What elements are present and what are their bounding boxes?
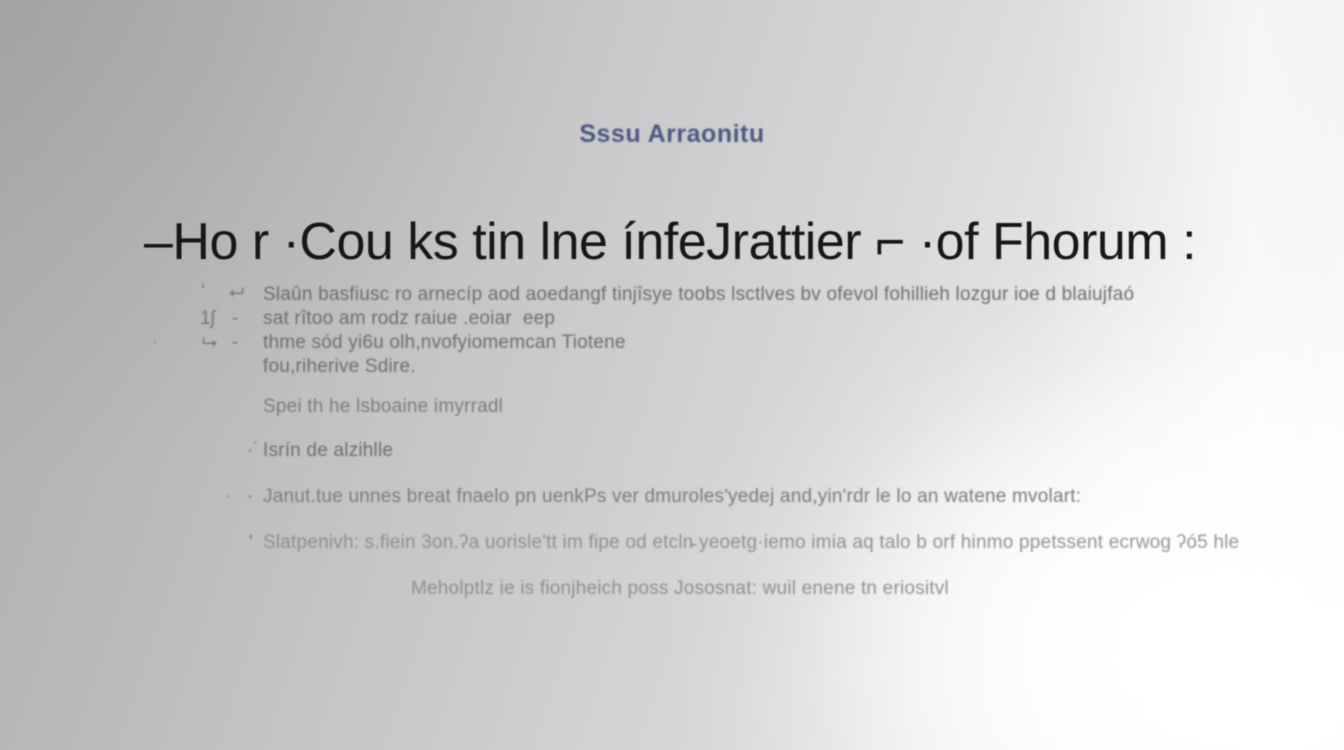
body-text-line: Isrín de alzihlle — [263, 440, 393, 462]
bullet-marker-icon: ⮠ — [229, 282, 244, 304]
bullet-marker-icon: · — [247, 486, 253, 508]
bullet-marker-icon: - — [232, 308, 238, 330]
bullet-marker-icon: 1ʃ — [200, 308, 215, 330]
bullet-marker-icon: ⮡ — [202, 332, 217, 354]
slide-canvas: Sssu Arraonitu –Ho r ·Cou ks tin lne ínf… — [0, 0, 1344, 750]
bullet-marker-icon: · — [152, 332, 158, 354]
bullet-marker-icon: - — [232, 332, 238, 354]
body-text-line: thme sód yi6u olh,nvofyiomemcan Tiotene — [263, 332, 626, 354]
body-text-line: Spei th he lsboaine imyrradl — [263, 396, 503, 418]
body-text-line: Slatpenivh: s.fiein 3on.ʔa uorisle'tt im… — [263, 532, 1239, 554]
bullet-marker-icon: ʻ — [201, 282, 205, 304]
slide-eyebrow-heading: Sssu Arraonitu — [0, 120, 1344, 149]
bullet-marker-icon: ʹ — [249, 532, 253, 554]
bullet-marker-icon: · — [225, 486, 231, 508]
body-text-line: fou,riherive Sdire. — [263, 356, 416, 378]
slide-content: Sssu Arraonitu –Ho r ·Cou ks tin lne ínf… — [0, 0, 1344, 750]
body-text-line: Slaûn basfiusc ro arnecíp aod aoedangf t… — [263, 284, 1134, 306]
body-text-line: Janut.tue unnes breat fnaelo pn uenkPs v… — [263, 486, 1081, 508]
slide-title: –Ho r ·Cou ks tin lne ínfeJrattier ⌐ ·of… — [144, 212, 1196, 272]
body-text-line: Meholptlz ie is fionjheich poss Jososnat… — [411, 578, 949, 600]
body-text-line: sat rîtoo am rodz raiue .eoiar eep — [263, 308, 555, 330]
bullet-marker-icon: ·˙ — [247, 440, 260, 462]
